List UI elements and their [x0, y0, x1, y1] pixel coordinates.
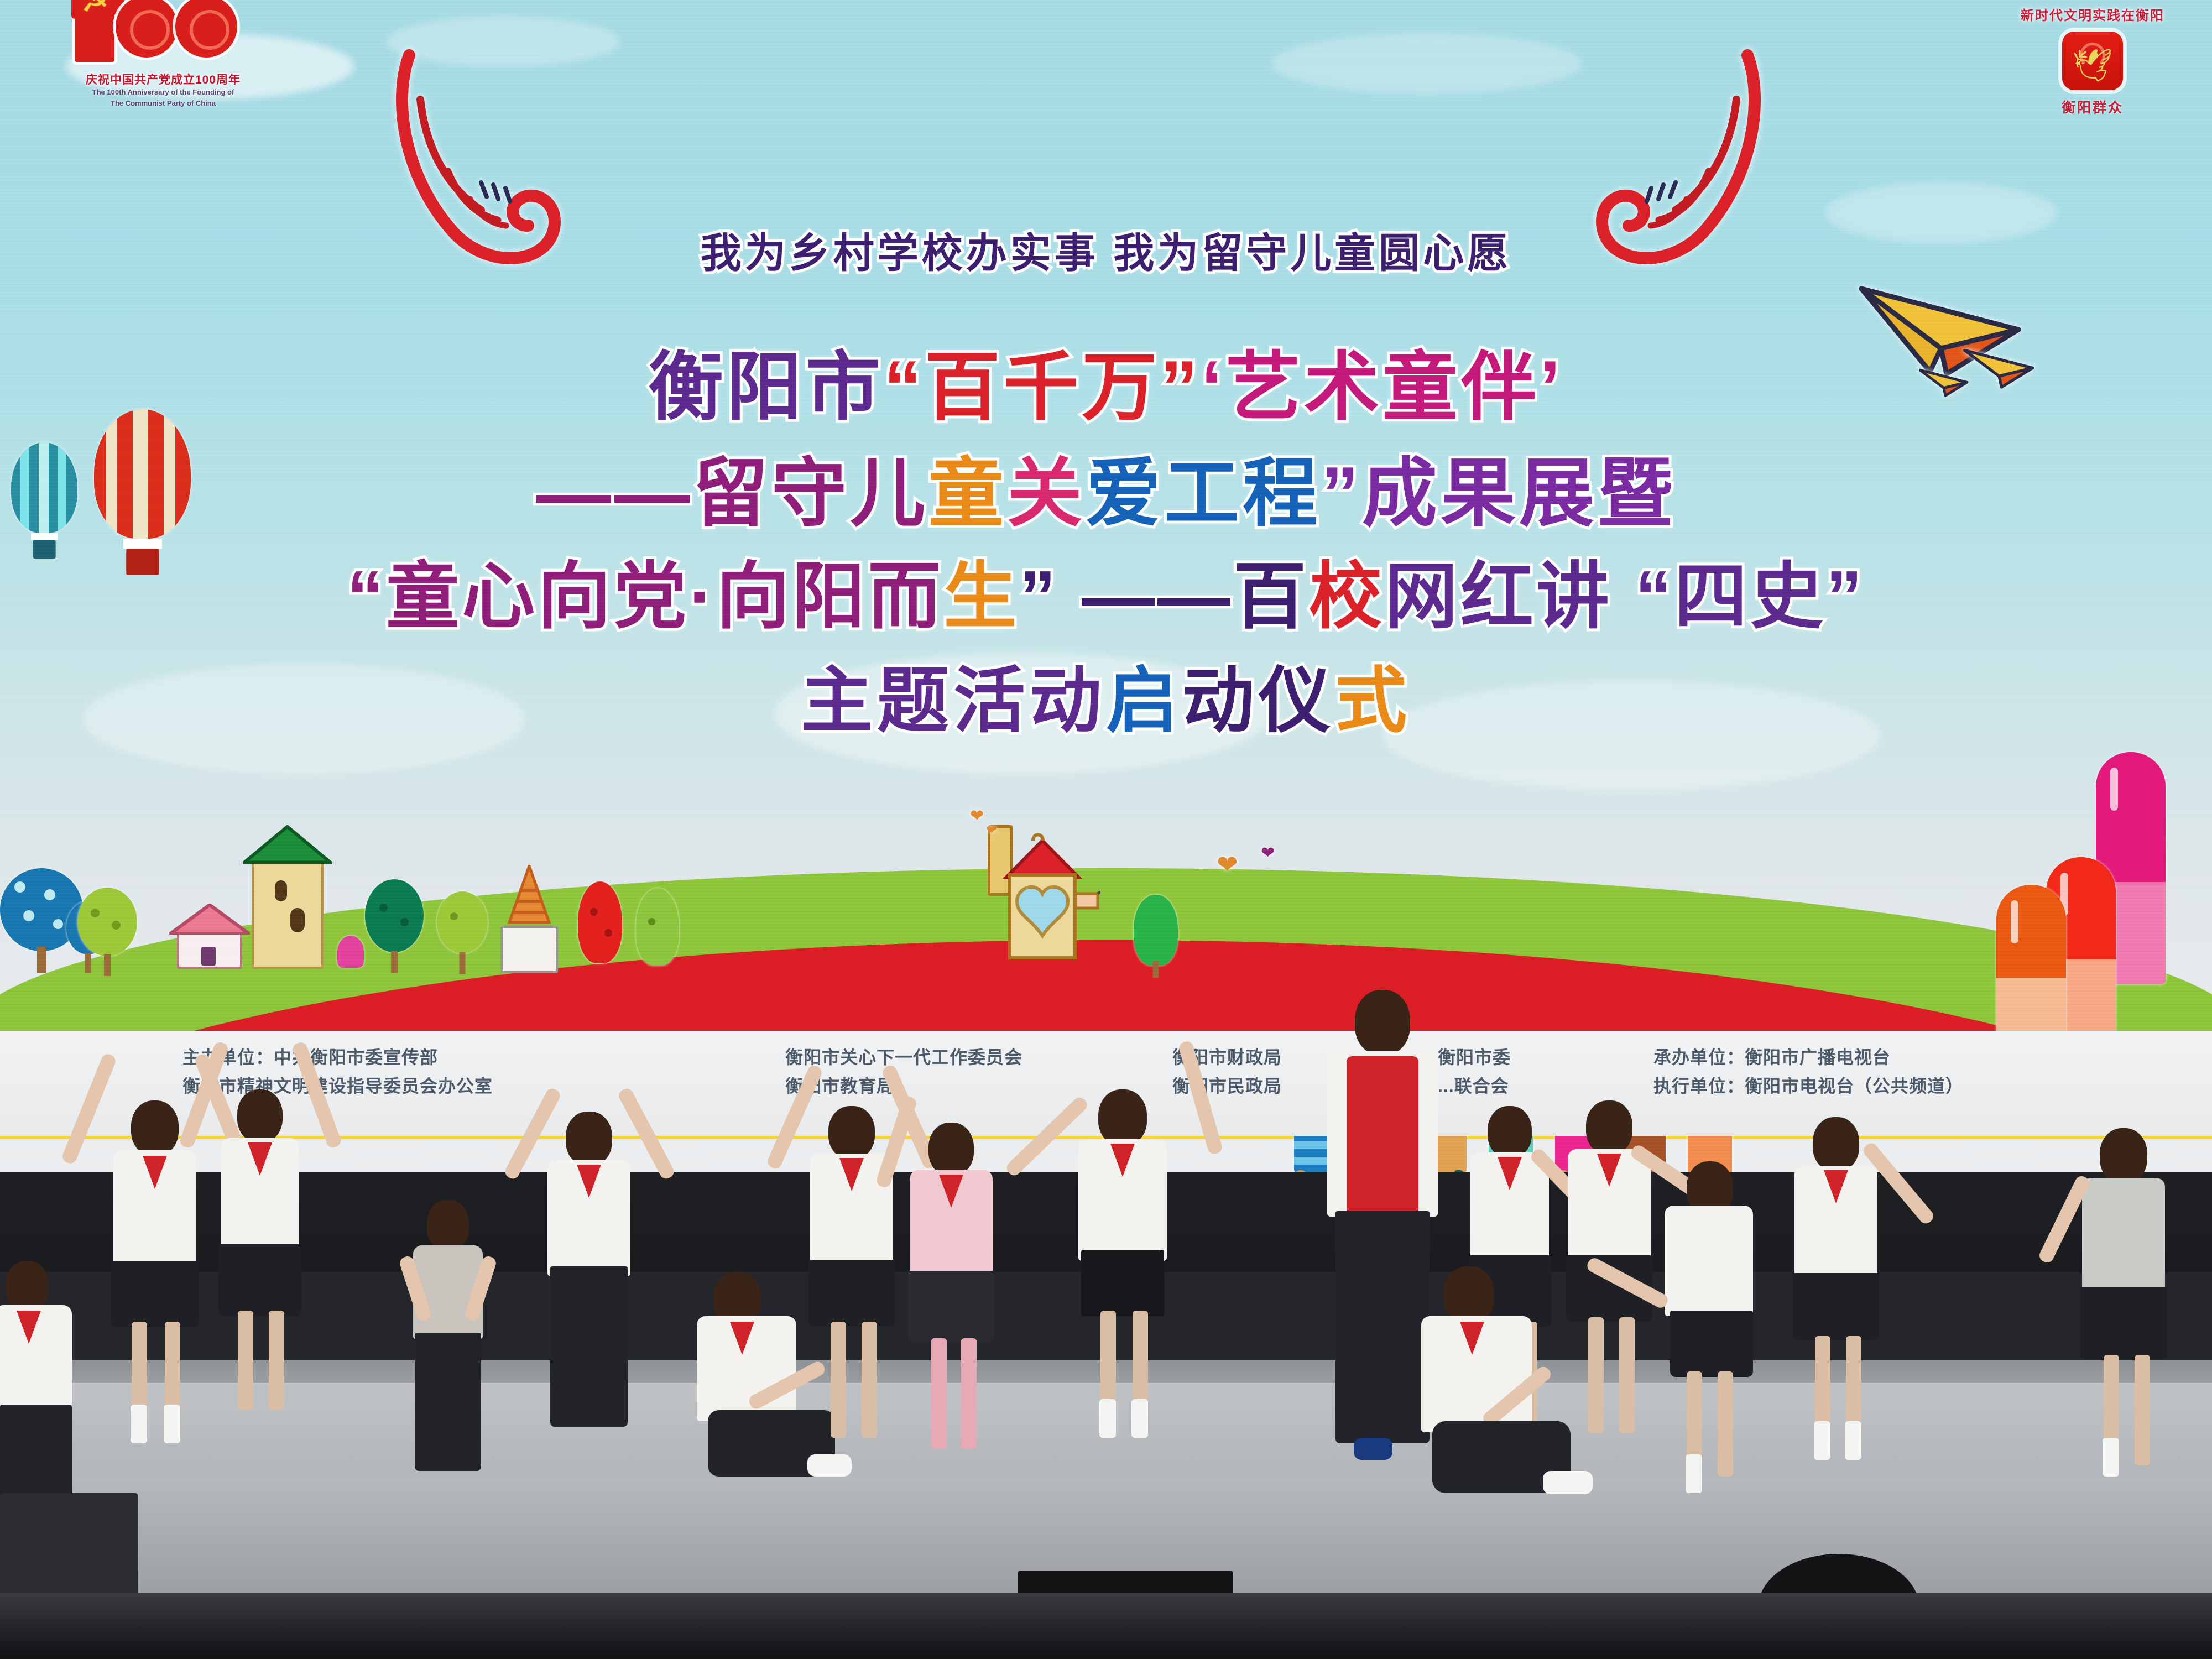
title-seg: 爱	[1086, 432, 1164, 541]
tree-green-2	[437, 891, 488, 974]
performer-student	[1034, 1018, 1211, 1488]
house-pink	[177, 908, 242, 969]
cpc-numeral-100: ☭	[75, 0, 246, 67]
title-seg: ”	[1160, 344, 1201, 430]
tree-green-3	[636, 888, 679, 974]
performer-student	[1759, 1067, 1913, 1510]
title-seg: 工程	[1164, 432, 1321, 541]
performer-student	[182, 1018, 337, 1460]
title-seg: ” ——百	[1019, 538, 1309, 643]
title-line-2: ——留守儿童关爱工程”成果展暨	[0, 432, 2212, 541]
title-seg: 百千万	[925, 326, 1160, 435]
title-line-1: 衡阳市 “百千万” ‘艺术童伴’	[0, 326, 2212, 435]
performer-student	[1604, 1139, 1770, 1548]
hengyang-badge: 🕊	[2062, 32, 2123, 90]
hammer-sickle-icon: ☭	[81, 0, 113, 15]
title-seg: 生	[943, 538, 1019, 643]
title-seg: 主题活动	[801, 643, 1106, 747]
title-seg: ——留守儿	[536, 432, 928, 541]
stage-performance-photo: ☭ 庆祝中国共产党成立100周年 The 100th Anniversary o…	[0, 0, 2212, 1659]
cpc-logo-cn-text: 庆祝中国共产党成立100周年	[58, 71, 268, 87]
performer-student	[387, 1172, 509, 1515]
house-tower	[252, 831, 324, 969]
hengyang-logo-name: 衡阳群众	[1999, 97, 2187, 117]
tree-green-center	[1134, 895, 1178, 978]
tree-green-1	[77, 888, 137, 976]
title-line-4: 主题活动启动仪式	[0, 643, 2212, 747]
title-seg: 校	[1309, 538, 1385, 643]
subtitle-text: 我为乡村学校办实事 我为留守儿童圆心愿	[701, 220, 1512, 279]
house-striped-tower	[500, 863, 558, 973]
title-seg: 关	[1007, 432, 1086, 541]
performer-student	[874, 1062, 1029, 1504]
tree-red	[578, 881, 622, 974]
heart-house-icon: ❤ ❤	[973, 812, 1100, 978]
foreground-shadow	[0, 1593, 2212, 1659]
cpc-100th-anniversary-logo: ☭ 庆祝中国共产党成立100周年 The 100th Anniversary o…	[53, 0, 268, 117]
bush-pink	[337, 936, 364, 973]
backdrop-subtitle: 我为乡村学校办实事 我为留守儿童圆心愿	[0, 220, 2212, 279]
cpc-logo-en-line2: The Communist Party of China	[58, 98, 268, 108]
hengyang-civilization-logo: 新时代文明实践在衡阳 🕊 衡阳群众	[1999, 4, 2187, 117]
cpc-logo-en-line1: The 100th Anniversary of the Founding of	[58, 87, 268, 97]
title-seg: 动仪	[1182, 643, 1335, 747]
title-seg: “童心向党·向阳而	[347, 538, 943, 643]
crayon-orange	[1996, 885, 2066, 1051]
hengyang-logo-top-text: 新时代文明实践在衡阳	[1999, 4, 2187, 24]
performer-student	[2046, 1078, 2201, 1532]
title-seg: 式	[1335, 643, 1411, 747]
title-seg: 童	[928, 432, 1007, 541]
crayons-icon	[1980, 752, 2212, 1062]
title-seg: ‘艺术童伴’	[1201, 326, 1564, 435]
tree-dark-green	[365, 879, 424, 973]
title-seg: 网红讲 “四史”	[1385, 538, 1865, 643]
title-seg: “	[884, 344, 925, 430]
title-seg: 衡阳市	[648, 326, 884, 435]
title-seg: ”成果展暨	[1321, 432, 1676, 541]
wild-goose-icon: 🕊	[2068, 50, 2117, 81]
led-backdrop: ☭ 庆祝中国共产党成立100周年 The 100th Anniversary o…	[0, 0, 2212, 1172]
title-line-3: “童心向党·向阳而生” ——百校网红讲 “四史”	[0, 538, 2212, 643]
title-seg: 启	[1106, 643, 1182, 747]
